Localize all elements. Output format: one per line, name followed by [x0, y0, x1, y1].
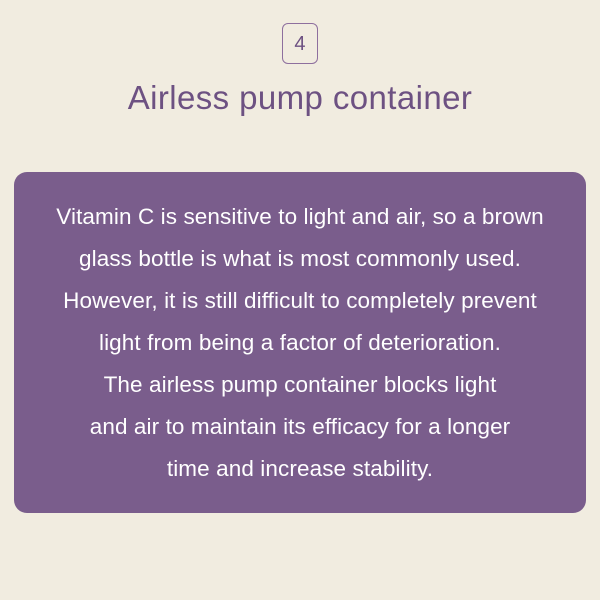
step-badge-row: 4 [0, 23, 600, 64]
description-line: and air to maintain its efficacy for a l… [36, 406, 564, 448]
description-line: glass bottle is what is most commonly us… [36, 238, 564, 280]
step-number-label: 4 [294, 34, 305, 54]
infographic-page: 4 Airless pump container Vitamin C is se… [0, 0, 600, 600]
description-line: The airless pump container blocks light [36, 364, 564, 406]
description-line: Vitamin C is sensitive to light and air,… [36, 196, 564, 238]
description-line: light from being a factor of deteriorati… [36, 322, 564, 364]
description-line: However, it is still difficult to comple… [36, 280, 564, 322]
description-text-block: Vitamin C is sensitive to light and air,… [36, 196, 564, 490]
step-number-badge: 4 [282, 23, 318, 64]
page-title: Airless pump container [0, 76, 600, 120]
description-card: Vitamin C is sensitive to light and air,… [14, 172, 586, 513]
description-line: time and increase stability. [36, 448, 564, 490]
